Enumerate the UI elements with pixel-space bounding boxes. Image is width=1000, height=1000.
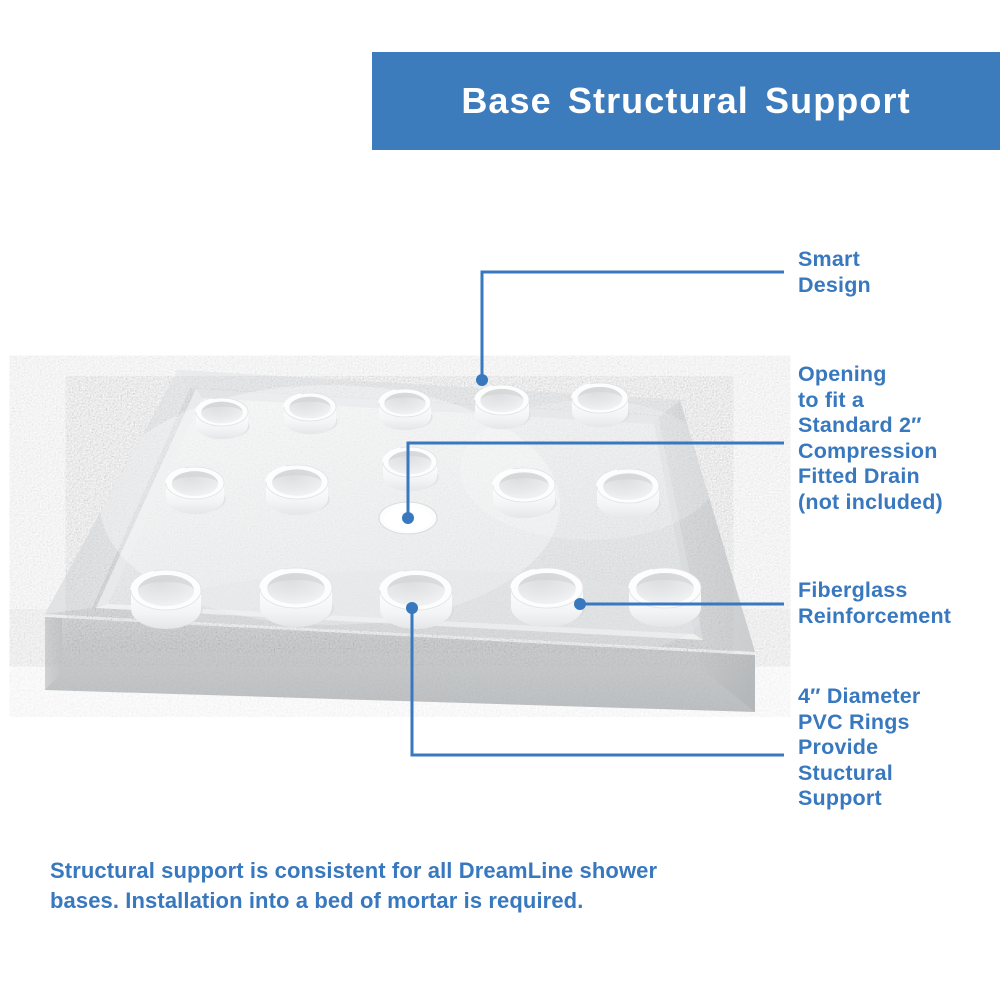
pvc-support-ring bbox=[266, 465, 330, 515]
pvc-support-ring bbox=[131, 570, 203, 629]
callout-label-fiberglass: Fiberglass Reinforcement bbox=[798, 578, 951, 629]
callout-label-smart-design: Smart Design bbox=[798, 247, 871, 298]
page-title: Base Structural Support bbox=[461, 80, 910, 122]
pvc-support-ring bbox=[284, 393, 338, 434]
pvc-support-ring bbox=[260, 568, 334, 627]
pvc-support-ring bbox=[379, 389, 433, 430]
pvc-support-ring bbox=[166, 467, 226, 514]
poster-canvas: Base Structural Support Smart Design Ope… bbox=[0, 0, 1000, 1000]
footer-caption: Structural support is consistent for all… bbox=[50, 856, 690, 916]
pvc-support-ring bbox=[196, 398, 250, 439]
pvc-support-ring bbox=[597, 469, 661, 519]
callout-label-pvc-rings: 4″ Diameter PVC Rings Provide Stuctural … bbox=[798, 684, 920, 812]
callout-label-drain-opening: Opening to fit a Standard 2″ Compression… bbox=[798, 362, 943, 515]
pvc-support-ring bbox=[475, 385, 531, 429]
drain-opening bbox=[379, 502, 437, 534]
header-banner: Base Structural Support bbox=[372, 52, 1000, 150]
pvc-support-ring bbox=[493, 468, 557, 518]
pvc-support-ring bbox=[511, 568, 585, 627]
pvc-support-ring bbox=[572, 383, 630, 427]
pvc-support-ring bbox=[629, 568, 703, 627]
pvc-support-ring bbox=[383, 447, 439, 491]
pvc-support-ring bbox=[380, 570, 454, 629]
